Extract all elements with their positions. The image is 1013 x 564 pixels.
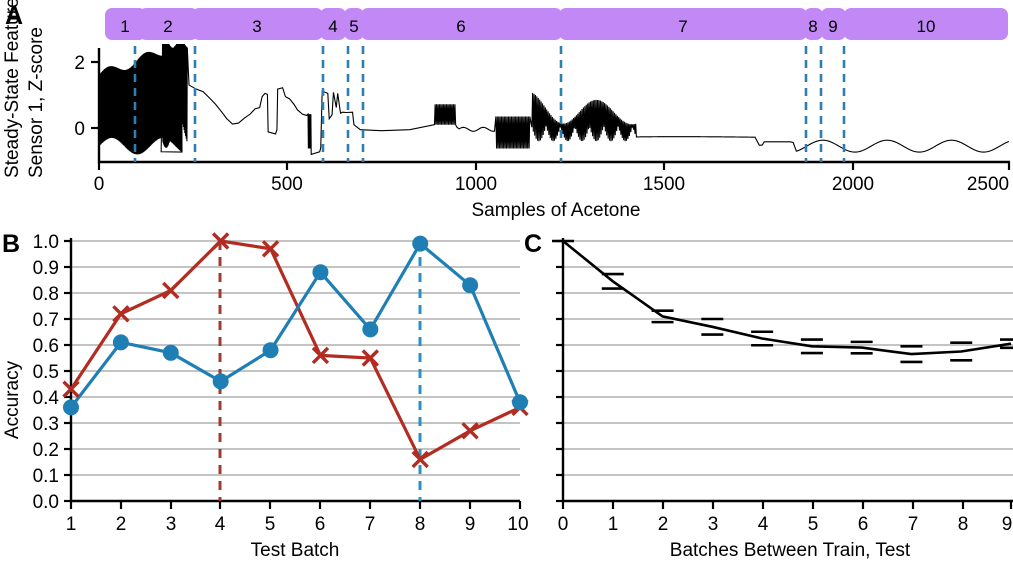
panel-b-xtick-label-4: 4 <box>215 514 226 535</box>
panel-b-marker-blue <box>263 342 279 358</box>
panel-a-xtick-label-1000: 1000 <box>455 174 497 195</box>
panel-b-xtick-label-8: 8 <box>415 514 426 535</box>
panel-b-xtick-label-3: 3 <box>166 514 177 535</box>
panel-b-marker-blue <box>163 345 179 361</box>
panel-b-marker-red <box>463 423 478 438</box>
panel-b-ytick-label-0.0: 0.0 <box>33 492 59 513</box>
panel-b-marker-blue <box>213 373 229 389</box>
panel-c-xtick-label-8: 8 <box>958 514 969 535</box>
panel-b-ytick-label-0.9: 0.9 <box>33 258 59 279</box>
panel-b-ytick-label-1.0: 1.0 <box>33 232 59 253</box>
panel-b-ytick-label-0.6: 0.6 <box>33 336 59 357</box>
figure-root: A Steady-State Feature, Sensor 1, Z-scor… <box>0 0 1013 564</box>
panel-a-ytick-label-2: 2 <box>74 53 85 74</box>
panel-a: A Steady-State Feature, Sensor 1, Z-scor… <box>2 0 1010 221</box>
panel-b-ytick-label-0.3: 0.3 <box>33 414 59 435</box>
batch-span-label-4: 4 <box>328 17 337 36</box>
panel-b-series-blue-line <box>71 244 520 408</box>
panel-b-xtick-label-10: 10 <box>507 514 528 535</box>
panel-b-ylabel: Accuracy <box>2 360 23 439</box>
panel-b-marker-blue <box>512 394 528 410</box>
panel-a-xlabel: Samples of Acetone <box>472 200 641 221</box>
panel-b-axes <box>71 238 520 501</box>
batch-span-label-6: 6 <box>456 17 465 36</box>
panel-b-xlabel: Test Batch <box>251 540 340 561</box>
panel-b-ytick-label-0.8: 0.8 <box>33 284 59 305</box>
panel-a-signal <box>99 39 1009 154</box>
panel-a-batch-dividers <box>135 46 844 162</box>
panel-b-marker-blue <box>312 264 328 280</box>
panel-a-ylabel-line2: Sensor 1, Z-score <box>26 27 47 178</box>
panel-a-xtick-label-0: 0 <box>94 174 105 195</box>
panel-b-marker-blue <box>462 277 478 293</box>
panel-c-xtick-label-0: 0 <box>558 514 569 535</box>
panel-c-xtick-label-9: 9 <box>1002 514 1013 535</box>
panel-b-xtick-label-1: 1 <box>66 514 77 535</box>
batch-span-label-8: 8 <box>808 17 817 36</box>
panel-c-xlabel: Batches Between Train, Test <box>670 540 911 561</box>
panel-a-xtick-label-2500: 2500 <box>967 174 1009 195</box>
panel-b-series-blue-markers <box>63 236 528 416</box>
panel-c-xtick-label-2: 2 <box>658 514 669 535</box>
batch-span-label-3: 3 <box>252 17 261 36</box>
panel-b-ytick-label-0.2: 0.2 <box>33 440 59 461</box>
panel-b-marker-red <box>163 283 178 298</box>
panel-c-error-bars <box>552 241 1013 362</box>
panel-a-batch-bars: 1 2 3 4 5 6 7 8 9 10 <box>105 8 1008 40</box>
panel-b-marker-blue <box>412 236 428 252</box>
panel-b: B Accuracy <box>2 230 529 561</box>
panel-a-xtick-label-500: 500 <box>271 174 303 195</box>
panel-c-xtick-label-4: 4 <box>758 514 769 535</box>
panel-b-series-red-markers <box>64 234 528 467</box>
panel-b-marker-blue <box>362 321 378 337</box>
panel-c-mean-line <box>563 241 1011 354</box>
batch-span-label-1: 1 <box>120 17 129 36</box>
figure-svg: A Steady-State Feature, Sensor 1, Z-scor… <box>0 0 1013 564</box>
panel-b-ytick-label-0.4: 0.4 <box>33 388 60 409</box>
panel-b-xtick-label-7: 7 <box>365 514 376 535</box>
panel-b-ytick-label-0.1: 0.1 <box>33 466 59 487</box>
panel-b-marker-blue <box>63 399 79 415</box>
panel-b-marker-blue <box>113 334 129 350</box>
batch-span-label-2: 2 <box>163 17 172 36</box>
panel-c-axes <box>563 238 1013 501</box>
panel-b-xtick-label-9: 9 <box>465 514 476 535</box>
panel-c-xtick-label-7: 7 <box>908 514 919 535</box>
batch-span-label-5: 5 <box>349 17 358 36</box>
panel-a-xtick-label-1500: 1500 <box>643 174 685 195</box>
panel-c: C <box>524 230 1013 561</box>
panel-c-xtick-label-1: 1 <box>608 514 619 535</box>
panel-a-ytick-label-0: 0 <box>74 119 85 140</box>
panel-b-ytick-label-0.7: 0.7 <box>33 310 59 331</box>
panel-a-xtick-label-2000: 2000 <box>832 174 874 195</box>
panel-c-letter: C <box>524 230 542 258</box>
panel-b-gridlines <box>71 241 520 501</box>
panel-b-series-red-line <box>71 241 520 459</box>
panel-c-xtick-label-6: 6 <box>858 514 869 535</box>
panel-c-gridlines <box>563 241 1013 501</box>
panel-c-xtick-label-5: 5 <box>808 514 819 535</box>
panel-b-ytick-label-0.5: 0.5 <box>33 362 59 383</box>
batch-span-label-9: 9 <box>828 17 837 36</box>
panel-c-xtick-label-3: 3 <box>708 514 719 535</box>
panel-b-xtick-label-2: 2 <box>116 514 127 535</box>
batch-span-label-10: 10 <box>917 17 936 36</box>
batch-span-label-7: 7 <box>678 17 687 36</box>
panel-b-xtick-label-6: 6 <box>315 514 326 535</box>
panel-a-ylabel-line1: Steady-State Feature, <box>2 0 23 178</box>
panel-b-xtick-label-5: 5 <box>265 514 276 535</box>
panel-b-letter: B <box>2 230 20 258</box>
